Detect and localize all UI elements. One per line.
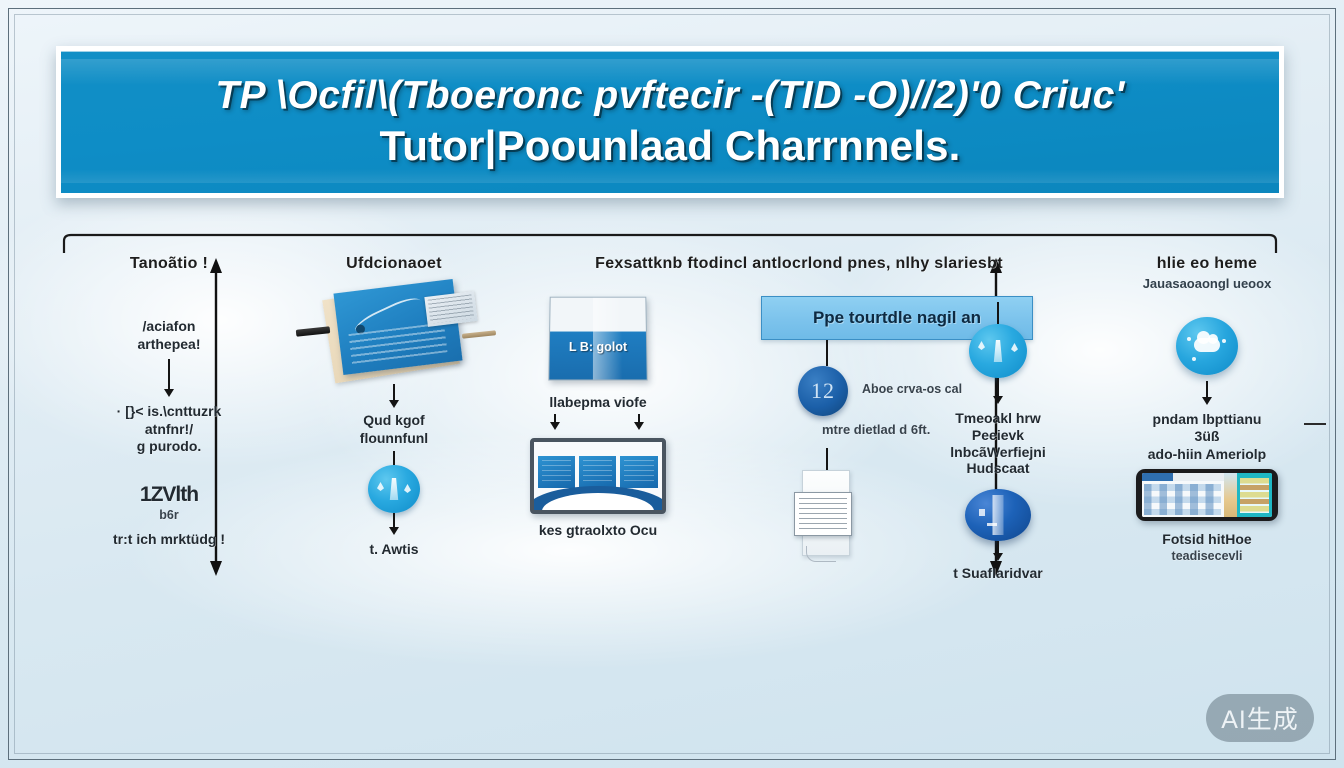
header-title-line-1: TP \Ocfil\(Tboeronc pvftecir -(TID -O)//… xyxy=(215,74,1124,118)
drop-glyph xyxy=(387,478,401,500)
book-sheen xyxy=(593,298,622,380)
cloud-spark xyxy=(1192,357,1196,361)
server-icon xyxy=(965,489,1031,541)
server-pip xyxy=(987,523,997,526)
clip-left-icon xyxy=(296,326,331,337)
document-inset xyxy=(424,291,477,327)
column-1-text-2: · [}< is.\cnttuzrk atnfnr!/ g purodo. xyxy=(62,403,276,456)
column-1-heading: Tanoãtio ! xyxy=(62,254,276,274)
center-connector-arrow-2 xyxy=(822,448,832,470)
tablet-topbar xyxy=(1142,473,1224,481)
tilted-document-image xyxy=(304,284,484,380)
tablet-screen xyxy=(1142,473,1272,517)
cloud-spark xyxy=(1187,337,1191,341)
column-3-down-arrow-left xyxy=(550,414,560,430)
column-3-caption-2: kes gtraolxto Ocu xyxy=(508,522,688,540)
column-4-caption-1: Tmeoakl hrw Peeievk lnbcãWerfiejni Hudsc… xyxy=(900,410,1096,477)
column-5-subheading: Jauasaoaongl ueoox xyxy=(1112,276,1302,293)
monitor-panel xyxy=(620,456,658,487)
column-3-down-arrow-right xyxy=(634,414,644,430)
header-banner: TP \Ocfil\(Tboeronc pvftecir -(TID -O)//… xyxy=(56,46,1284,198)
column-2-down-arrow-3 xyxy=(389,513,399,535)
column-2-down-arrow-2 xyxy=(389,451,399,465)
column-container: Tanoãtio ! /aciafon arthepea! · [}< is.\… xyxy=(62,254,1278,614)
header-title-line-2: Tutor|Poounlaad Charrnnels. xyxy=(379,122,960,170)
center-connector-arrow-1 xyxy=(822,340,832,366)
column-3-left-group: L B: golot llabepma viofe xyxy=(508,282,688,539)
water-drop-icon xyxy=(368,465,420,513)
column-2-caption-2: t. Awtis xyxy=(294,541,494,559)
column-2-caption-1: Qud kgof flounnfunl xyxy=(294,412,494,447)
server-pip xyxy=(979,509,985,516)
tablet-screen-left xyxy=(1142,473,1224,517)
ai-generated-watermark: AI生成 xyxy=(1206,694,1314,742)
page-curl xyxy=(806,546,836,562)
cloud-spark xyxy=(1222,339,1226,343)
column-1: Tanoãtio ! /aciafon arthepea! · [}< is.\… xyxy=(62,254,276,549)
column-1-text-1: /aciafon arthepea! xyxy=(62,318,276,353)
column-2: Ufdcionaoet Qud kgof flounnfunl xyxy=(294,254,494,559)
step-badge-12: 12 xyxy=(798,366,848,416)
column-1-down-arrow xyxy=(164,359,174,397)
sheet-front xyxy=(794,492,852,536)
rocket-launch-icon xyxy=(969,324,1027,378)
monitor-panel xyxy=(538,456,575,487)
column-2-down-arrow-1 xyxy=(389,384,399,408)
book-image: L B: golot xyxy=(548,297,647,381)
blue-screen xyxy=(333,279,462,375)
column-4: nlhy slariesbt Tmeoakl hrw Peeievk lnbcã… xyxy=(900,254,1096,583)
column-5: hlie eo heme Jauasaoaongl ueoox pndam lb… xyxy=(1112,254,1302,565)
monitor-screenshot xyxy=(530,438,666,514)
column-5-caption-3: teadisecevli xyxy=(1112,549,1302,565)
server-bar xyxy=(993,495,1004,535)
drop-right xyxy=(404,484,411,493)
book-label: L B: golot xyxy=(550,340,647,354)
column-4-down-arrow-2 xyxy=(993,378,1003,404)
cloud-glyph xyxy=(1194,338,1220,352)
column-5-heading: hlie eo heme xyxy=(1112,254,1302,274)
column-5-caption-1: pndam lbpttianu 3üß ado-hiin Ameriolp xyxy=(1112,411,1302,464)
column-4-caption-2: t Suaflaridvar xyxy=(900,565,1096,583)
column-1-text-3: 1ZVlth xyxy=(62,482,276,508)
column-2-heading: Ufdcionaoet xyxy=(294,254,494,274)
dash-marker xyxy=(1304,423,1326,425)
clip-right-icon xyxy=(462,330,496,339)
cloud-upload-icon xyxy=(1176,317,1238,375)
slide-canvas: TP \Ocfil\(Tboeronc pvftecir -(TID -O)//… xyxy=(0,0,1344,768)
column-4-down-arrow-1 xyxy=(993,302,1003,324)
tablet-screen-mid xyxy=(1224,473,1237,517)
document-stack-icon xyxy=(794,470,856,562)
tablet-screenshot xyxy=(1136,469,1278,521)
column-5-caption-2: Fotsid hitHoe xyxy=(1112,531,1302,549)
drop-left xyxy=(377,482,384,491)
spark-right xyxy=(1011,343,1018,352)
top-bracket xyxy=(62,232,1278,254)
column-4-down-arrow-3 xyxy=(993,541,1003,561)
monitor-panel xyxy=(579,456,616,487)
rocket-glyph xyxy=(991,340,1005,362)
column-1-text-4: b6r xyxy=(62,508,276,524)
column-1-text-5: tr:t ich mrktüdg ! xyxy=(62,531,276,549)
tablet-content-grid xyxy=(1144,484,1221,515)
spark-left xyxy=(978,341,985,350)
tablet-screen-right xyxy=(1237,473,1272,517)
column-3-caption-1: llabepma viofe xyxy=(508,394,688,412)
column-5-down-arrow xyxy=(1202,381,1212,405)
